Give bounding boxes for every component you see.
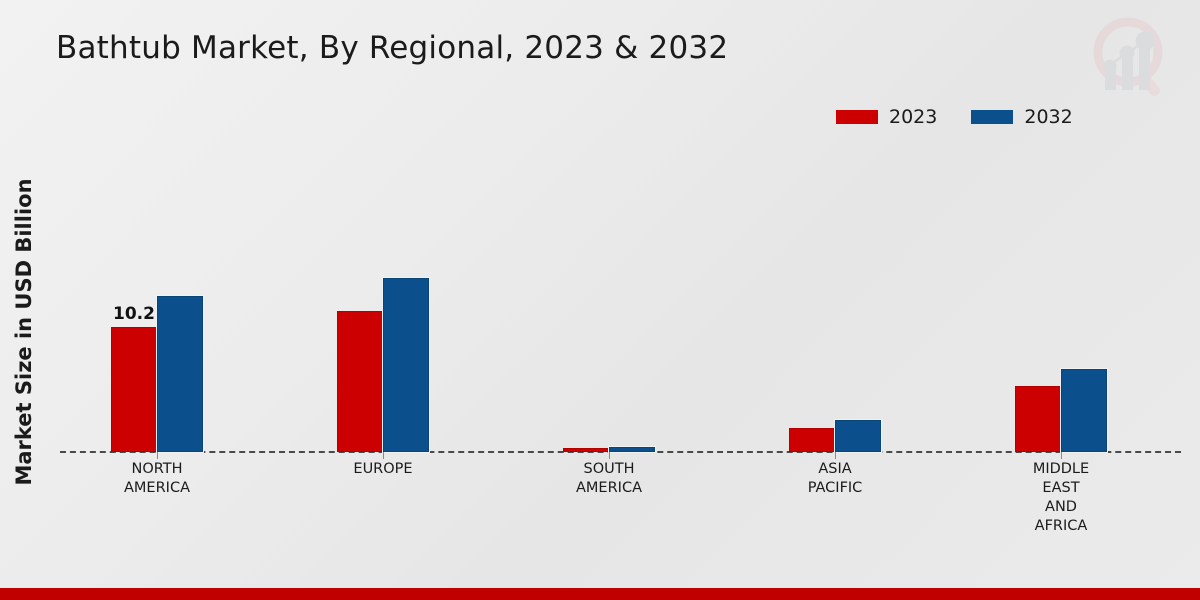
bar-group-south-america <box>563 192 655 452</box>
legend-item-2032[interactable]: 2032 <box>971 106 1072 128</box>
axis-tick-north-america <box>157 452 158 459</box>
bar-2032-south-america[interactable] <box>609 447 655 452</box>
bar-group-north-america: 10.2 <box>111 192 203 452</box>
axis-tick-middle-east-africa <box>1061 452 1062 459</box>
category-label-europe: EUROPE <box>288 460 478 479</box>
chart-page: Bathtub Market, By Regional, 2023 & 2032… <box>0 0 1200 600</box>
footer-accent-bar <box>0 588 1200 600</box>
bar-value-label: 10.2 <box>113 304 155 324</box>
bar-2023-asia-pacific[interactable] <box>789 428 835 452</box>
legend-label-2023: 2023 <box>889 106 937 128</box>
legend-item-2023[interactable]: 2023 <box>836 106 937 128</box>
bar-2023-europe[interactable] <box>337 311 383 452</box>
axis-tick-asia-pacific <box>835 452 836 459</box>
market-research-logo-icon <box>1076 8 1186 104</box>
chart-title: Bathtub Market, By Regional, 2023 & 2032 <box>56 30 728 66</box>
legend-swatch-2023 <box>836 110 878 124</box>
category-label-middle-east-africa: MIDDLEEASTANDAFRICA <box>966 460 1156 536</box>
bar-2023-north-america[interactable]: 10.2 <box>111 327 157 452</box>
bar-2023-middle-east-africa[interactable] <box>1015 386 1061 452</box>
bar-group-middle-east-africa <box>1015 192 1107 452</box>
bar-group-europe <box>337 192 429 452</box>
axis-tick-europe <box>383 452 384 459</box>
bar-2032-europe[interactable] <box>383 278 429 452</box>
category-label-asia-pacific: ASIAPACIFIC <box>740 460 930 498</box>
y-axis-title: Market Size in USD Billion <box>12 162 36 502</box>
axis-tick-south-america <box>609 452 610 459</box>
chart-legend: 2023 2032 <box>836 106 1073 128</box>
bar-2032-north-america[interactable] <box>157 296 203 452</box>
bar-group-asia-pacific <box>789 192 881 452</box>
bar-2032-asia-pacific[interactable] <box>835 420 881 452</box>
category-label-north-america: NORTHAMERICA <box>62 460 252 498</box>
legend-label-2032: 2032 <box>1024 106 1072 128</box>
category-label-south-america: SOUTHAMERICA <box>514 460 704 498</box>
bar-2032-middle-east-africa[interactable] <box>1061 369 1107 452</box>
legend-swatch-2032 <box>971 110 1013 124</box>
bar-2023-south-america[interactable] <box>563 448 609 452</box>
